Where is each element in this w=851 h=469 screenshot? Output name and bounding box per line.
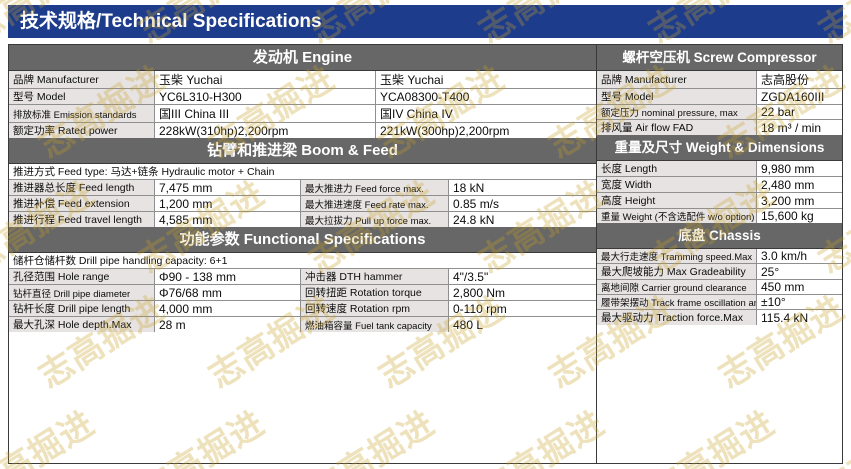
row-label: 排风量 Air flow FAD bbox=[597, 120, 757, 135]
row-value-b: 18 kN bbox=[449, 180, 596, 195]
section-screw-compressor: 螺杆空压机 Screw Compressor 品牌 Manufacturer 志… bbox=[597, 45, 842, 135]
row-label: 排放标准 Emission standards bbox=[9, 105, 155, 122]
row-value-b: 4"/3.5" bbox=[449, 269, 596, 284]
table-row: 长度 Length 9,980 mm bbox=[597, 161, 842, 177]
row-label: 最大爬坡能力 Max Gradeability bbox=[597, 264, 757, 279]
right-column: 螺杆空压机 Screw Compressor 品牌 Manufacturer 志… bbox=[597, 45, 842, 463]
table-row: 推进器总长度 Feed length 7,475 mm 最大推进力 Feed f… bbox=[9, 180, 596, 196]
row-value-a: 4,585 mm bbox=[155, 212, 301, 227]
section-chassis: 底盘 Chassis 最大行走速度 Tramming speed.Max 3.0… bbox=[597, 223, 842, 325]
row-value-a: 1,200 mm bbox=[155, 196, 301, 211]
row-value-a: 国III China III bbox=[155, 105, 376, 122]
row-value: 3,200 mm bbox=[757, 193, 841, 208]
table-row: 孔径范围 Hole range Φ90 - 138 mm 冲击器 DTH ham… bbox=[9, 269, 596, 285]
row-value: 9,980 mm bbox=[757, 161, 841, 176]
row-label-b: 燃油箱容量 Fuel tank capacity bbox=[301, 317, 449, 332]
row-label-b: 冲击器 DTH hammer bbox=[301, 269, 449, 284]
table-row: 推进补偿 Feed extension 1,200 mm 最大推进速度 Feed… bbox=[9, 196, 596, 212]
row-label-a: 推进行程 Feed travel length bbox=[9, 212, 155, 227]
row-value-b: 480 L bbox=[449, 317, 596, 332]
row-label: 最大驱动力 Traction force.Max bbox=[597, 310, 757, 325]
row-label-a: 孔径范围 Hole range bbox=[9, 269, 155, 284]
table-row: 最大行走速度 Tramming speed.Max 3.0 km/h bbox=[597, 249, 842, 264]
row-label: 型号 Model bbox=[597, 89, 757, 104]
row-value: 志高股份 bbox=[757, 71, 841, 88]
row-label: 品牌 Manufacturer bbox=[597, 71, 757, 88]
row-label: 品牌 Manufacturer bbox=[9, 71, 155, 88]
section-functional: 功能参数 Functional Specifications 储杆仓储杆数 Dr… bbox=[9, 227, 596, 332]
row-value: ±10° bbox=[757, 295, 841, 309]
table-row-full: 储杆仓储杆数 Drill pipe handling capacity: 6+1 bbox=[9, 253, 596, 269]
row-value-a: YC6L310-H300 bbox=[155, 89, 376, 104]
section-title-boom-feed: 钻臂和推进梁 Boom & Feed bbox=[9, 138, 596, 164]
left-column: 发动机 Engine 品牌 Manufacturer 玉柴 Yuchai 玉柴 … bbox=[9, 45, 597, 463]
row-full-text: 储杆仓储杆数 Drill pipe handling capacity: 6+1 bbox=[9, 253, 596, 268]
row-label-a: 最大孔深 Hole depth.Max bbox=[9, 317, 155, 332]
row-label-a: 推进器总长度 Feed length bbox=[9, 180, 155, 195]
row-value-a: Φ90 - 138 mm bbox=[155, 269, 301, 284]
table-row: 离地间隙 Carrier ground clearance 450 mm bbox=[597, 280, 842, 295]
row-label-a: 推进补偿 Feed extension bbox=[9, 196, 155, 211]
row-label: 履带架摆动 Track frame oscillation angle bbox=[597, 295, 757, 309]
row-value-b: 221kW(300hp)2,200rpm bbox=[376, 123, 596, 138]
row-value-b: 0.85 m/s bbox=[449, 196, 596, 211]
row-label-b: 最大拉拔力 Pull up force max. bbox=[301, 212, 449, 227]
row-label: 高度 Height bbox=[597, 193, 757, 208]
row-value: 450 mm bbox=[757, 280, 841, 294]
page-title-bar: 技术规格/Technical Specifications bbox=[8, 5, 843, 38]
row-label: 额定功率 Rated power bbox=[9, 123, 155, 138]
section-title-screw-compressor: 螺杆空压机 Screw Compressor bbox=[597, 45, 842, 71]
table-row: 品牌 Manufacturer 志高股份 bbox=[597, 71, 842, 89]
section-engine: 发动机 Engine 品牌 Manufacturer 玉柴 Yuchai 玉柴 … bbox=[9, 45, 596, 138]
row-value: 22 bar bbox=[757, 105, 841, 119]
table-row: 额定功率 Rated power 228kW(310hp)2,200rpm 22… bbox=[9, 123, 596, 138]
section-title-functional: 功能参数 Functional Specifications bbox=[9, 227, 596, 253]
table-row: 钻杆直径 Drill pipe diameter Φ76/68 mm 回转扭距 … bbox=[9, 285, 596, 301]
row-value-a: 28 m bbox=[155, 317, 301, 332]
row-label-a: 钻杆直径 Drill pipe diameter bbox=[9, 285, 155, 300]
row-value-b: 0-110 rpm bbox=[449, 301, 596, 316]
table-row: 额定压力 nominal pressure, max 22 bar bbox=[597, 105, 842, 120]
row-label: 最大行走速度 Tramming speed.Max bbox=[597, 249, 757, 263]
section-title-engine: 发动机 Engine bbox=[9, 45, 596, 71]
section-boom-feed: 钻臂和推进梁 Boom & Feed 推进方式 Feed type: 马达+链条… bbox=[9, 138, 596, 227]
row-label-b: 回转扭距 Rotation torque bbox=[301, 285, 449, 300]
row-value: 115.4 kN bbox=[757, 310, 841, 325]
row-full-text: 推进方式 Feed type: 马达+链条 Hydraulic motor + … bbox=[9, 164, 596, 179]
table-row: 宽度 Width 2,480 mm bbox=[597, 177, 842, 193]
row-value-b: 24.8 kN bbox=[449, 212, 596, 227]
row-value-a: 228kW(310hp)2,200rpm bbox=[155, 123, 376, 138]
row-value-b: YCA08300-T400 bbox=[376, 89, 596, 104]
table-row: 品牌 Manufacturer 玉柴 Yuchai 玉柴 Yuchai bbox=[9, 71, 596, 89]
row-label-b: 回转速度 Rotation rpm bbox=[301, 301, 449, 316]
row-label: 长度 Length bbox=[597, 161, 757, 176]
section-weight-dimensions: 重量及尺寸 Weight & Dimensions 长度 Length 9,98… bbox=[597, 135, 842, 223]
table-row: 最大孔深 Hole depth.Max 28 m 燃油箱容量 Fuel tank… bbox=[9, 317, 596, 332]
row-value-b: 2,800 Nm bbox=[449, 285, 596, 300]
row-label-b: 最大推进力 Feed force max. bbox=[301, 180, 449, 195]
table-row: 排风量 Air flow FAD 18 m³ / min bbox=[597, 120, 842, 135]
row-label: 额定压力 nominal pressure, max bbox=[597, 105, 757, 119]
row-value-a: 7,475 mm bbox=[155, 180, 301, 195]
table-row: 型号 Model ZGDA160III bbox=[597, 89, 842, 105]
row-value: 2,480 mm bbox=[757, 177, 841, 192]
section-title-weight-dimensions: 重量及尺寸 Weight & Dimensions bbox=[597, 135, 842, 161]
row-value-a: Φ76/68 mm bbox=[155, 285, 301, 300]
table-row: 最大爬坡能力 Max Gradeability 25° bbox=[597, 264, 842, 280]
table-row-full: 推进方式 Feed type: 马达+链条 Hydraulic motor + … bbox=[9, 164, 596, 180]
table-row: 最大驱动力 Traction force.Max 115.4 kN bbox=[597, 310, 842, 325]
row-label-b: 最大推进速度 Feed rate max. bbox=[301, 196, 449, 211]
table-row: 型号 Model YC6L310-H300 YCA08300-T400 bbox=[9, 89, 596, 105]
row-label: 型号 Model bbox=[9, 89, 155, 104]
row-value-b: 玉柴 Yuchai bbox=[376, 71, 596, 88]
row-label: 重量 Weight (不含选配件 w/o option) bbox=[597, 209, 757, 223]
page-title: 技术规格/Technical Specifications bbox=[8, 5, 843, 38]
row-value: ZGDA160III bbox=[757, 89, 841, 104]
table-row: 履带架摆动 Track frame oscillation angle ±10° bbox=[597, 295, 842, 310]
row-value: 25° bbox=[757, 264, 841, 279]
table-row: 推进行程 Feed travel length 4,585 mm 最大拉拔力 P… bbox=[9, 212, 596, 227]
row-label-a: 钻杆长度 Drill pipe length bbox=[9, 301, 155, 316]
row-value-a: 4,000 mm bbox=[155, 301, 301, 316]
row-value-b: 国IV China IV bbox=[376, 105, 596, 122]
table-row: 钻杆长度 Drill pipe length 4,000 mm 回转速度 Rot… bbox=[9, 301, 596, 317]
table-row: 高度 Height 3,200 mm bbox=[597, 193, 842, 209]
section-title-chassis: 底盘 Chassis bbox=[597, 223, 842, 249]
table-row: 重量 Weight (不含选配件 w/o option) 15,600 kg bbox=[597, 209, 842, 223]
row-value: 15,600 kg bbox=[757, 209, 841, 223]
specifications-table: 发动机 Engine 品牌 Manufacturer 玉柴 Yuchai 玉柴 … bbox=[8, 44, 843, 464]
table-row: 排放标准 Emission standards 国III China III 国… bbox=[9, 105, 596, 123]
row-label: 宽度 Width bbox=[597, 177, 757, 192]
row-value-a: 玉柴 Yuchai bbox=[155, 71, 376, 88]
row-label: 离地间隙 Carrier ground clearance bbox=[597, 280, 757, 294]
row-value: 3.0 km/h bbox=[757, 249, 841, 263]
row-value: 18 m³ / min bbox=[757, 120, 841, 135]
